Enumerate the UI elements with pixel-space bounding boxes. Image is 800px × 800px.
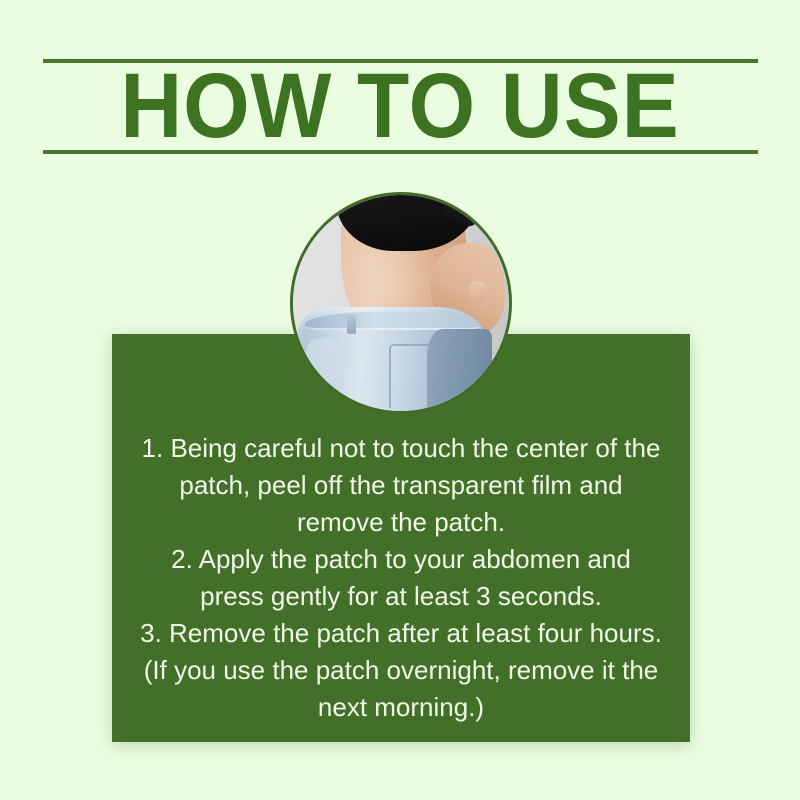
- instruction-steps: 1. Being careful not to touch the center…: [138, 430, 664, 726]
- hand-illustration: [469, 281, 487, 305]
- title-rule-bottom: [43, 150, 758, 154]
- jeans-leg: [427, 329, 492, 414]
- jeans-belt-loop: [347, 315, 357, 334]
- photo-backdrop: [293, 195, 509, 411]
- page-title: HOW TO USE: [28, 62, 772, 150]
- jeans-waistband: [305, 312, 480, 330]
- instruction-step-3: 3. Remove the patch after at least four …: [138, 615, 664, 726]
- how-to-use-poster: HOW TO USE 1. Being careful not to touch…: [0, 0, 800, 800]
- jeans-fold: [305, 339, 343, 409]
- product-photo-circle: [290, 192, 512, 414]
- instruction-step-1: 1. Being careful not to touch the center…: [138, 430, 664, 541]
- instruction-step-2: 2. Apply the patch to your abdomen and p…: [138, 541, 664, 615]
